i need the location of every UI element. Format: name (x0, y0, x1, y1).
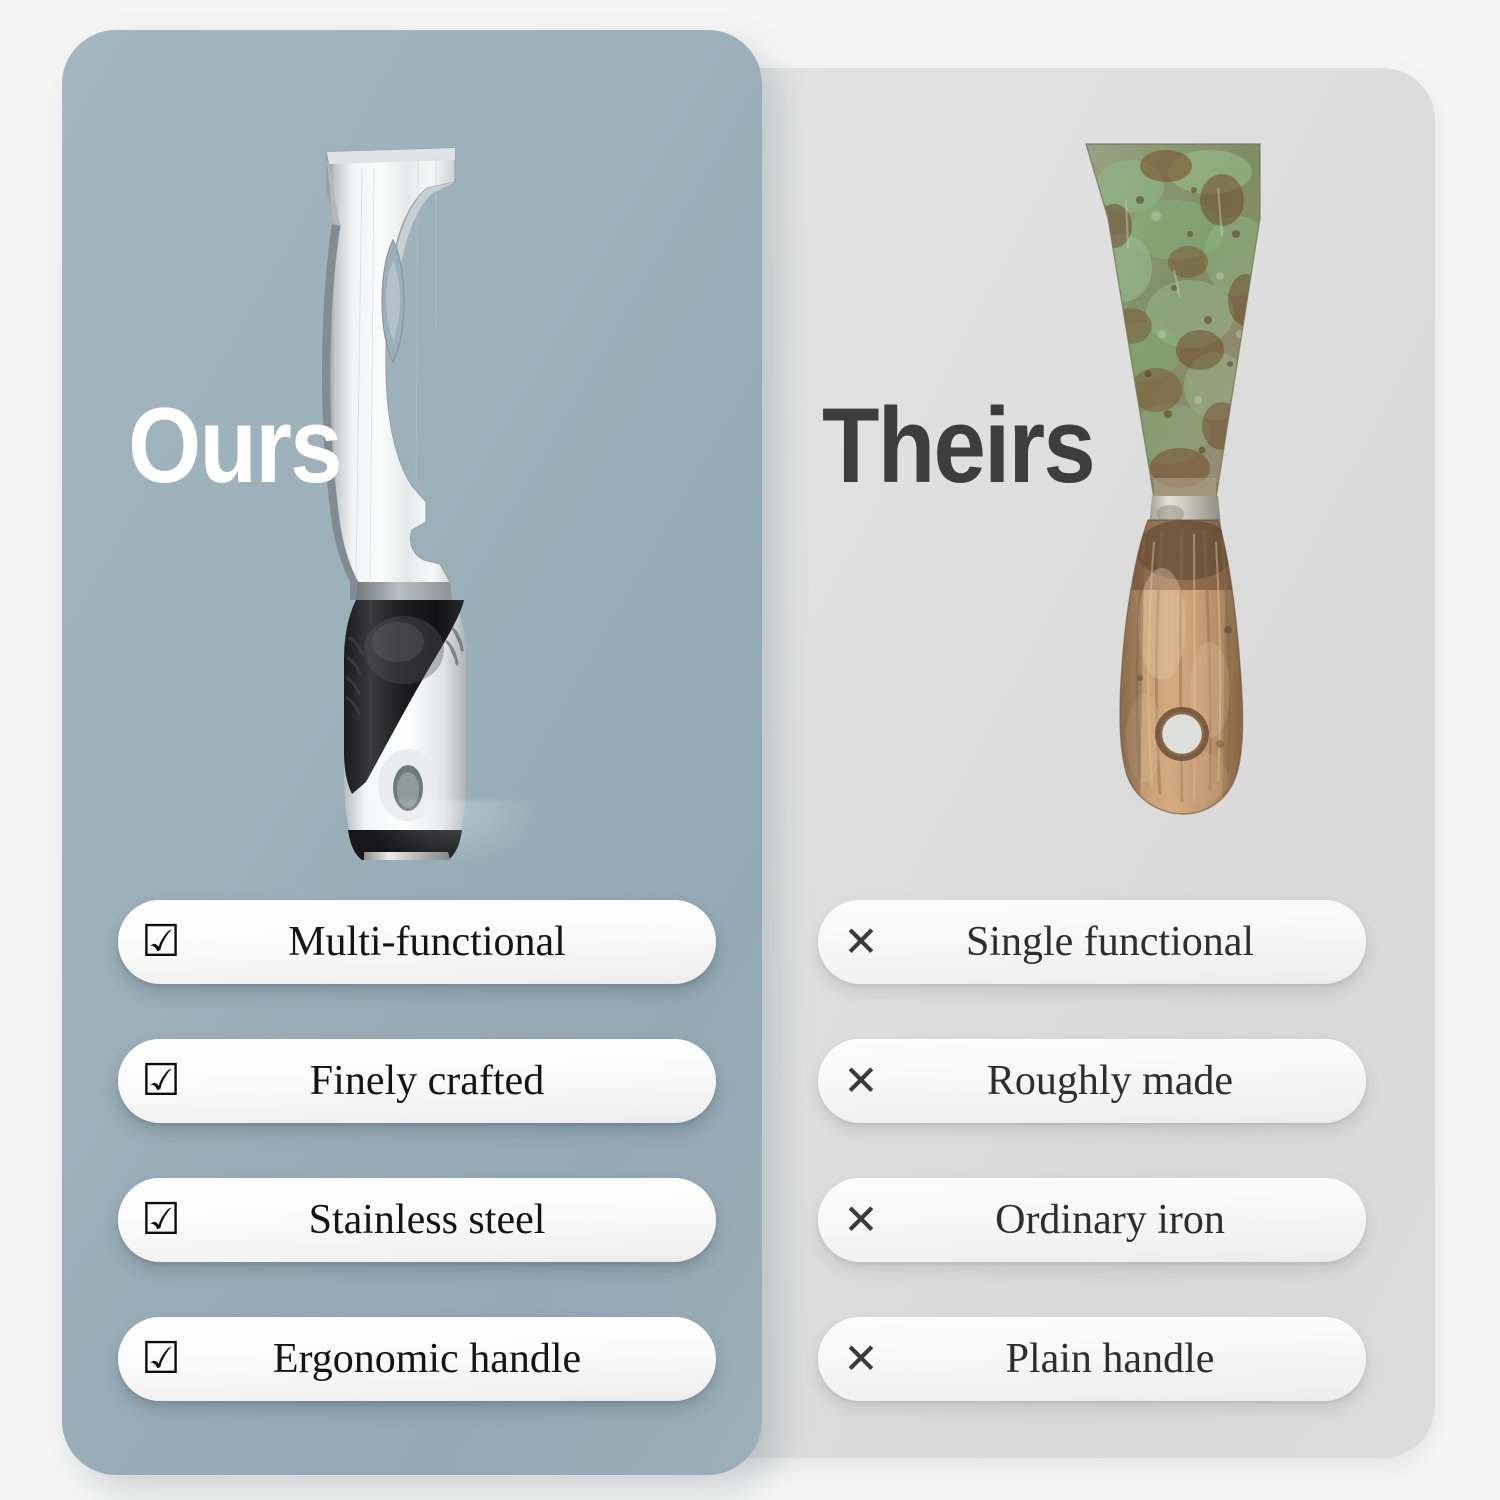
ours-feature-item-3[interactable]: ☑ Stainless steel (118, 1178, 716, 1262)
ours-feature-item-4[interactable]: ☑ Ergonomic handle (118, 1317, 716, 1401)
theirs-feature-item-3[interactable]: ✕ Ordinary iron (818, 1178, 1366, 1262)
comparison-infographic: Ours Theirs ☑ Multi-functional ☑ Finely … (0, 0, 1500, 1500)
ours-feature-label: Multi-functional (204, 918, 716, 966)
theirs-product-image (1070, 138, 1300, 828)
ours-feature-label: Finely crafted (204, 1057, 716, 1105)
ours-feature-list: ☑ Multi-functional ☑ Finely crafted ☑ St… (118, 900, 716, 1401)
theirs-feature-label: Plain handle (904, 1335, 1366, 1383)
ours-feature-label: Stainless steel (204, 1196, 716, 1244)
theirs-heading: Theirs (822, 392, 1094, 499)
cross-mark-icon: ✕ (818, 921, 904, 963)
ours-feature-item-1[interactable]: ☑ Multi-functional (118, 900, 716, 984)
theirs-feature-label: Roughly made (904, 1057, 1366, 1105)
theirs-feature-item-4[interactable]: ✕ Plain handle (818, 1317, 1366, 1401)
theirs-feature-label: Single functional (904, 918, 1366, 966)
ballot-box-with-check-icon: ☑ (118, 1059, 204, 1103)
ours-product-image (300, 130, 600, 860)
wood-grain-texture (1120, 520, 1242, 814)
cross-mark-icon: ✕ (818, 1060, 904, 1102)
theirs-feature-item-1[interactable]: ✕ Single functional (818, 900, 1366, 984)
ours-heading: Ours (128, 392, 341, 499)
cross-mark-icon: ✕ (818, 1338, 904, 1380)
ours-feature-label: Ergonomic handle (204, 1335, 716, 1383)
ballot-box-with-check-icon: ☑ (118, 920, 204, 964)
theirs-feature-label: Ordinary iron (904, 1196, 1366, 1244)
ballot-box-with-check-icon: ☑ (118, 1198, 204, 1242)
ballot-box-with-check-icon: ☑ (118, 1337, 204, 1381)
theirs-feature-list: ✕ Single functional ✕ Roughly made ✕ Ord… (818, 900, 1366, 1401)
theirs-feature-item-2[interactable]: ✕ Roughly made (818, 1039, 1366, 1123)
cross-mark-icon: ✕ (818, 1199, 904, 1241)
ours-feature-item-2[interactable]: ☑ Finely crafted (118, 1039, 716, 1123)
